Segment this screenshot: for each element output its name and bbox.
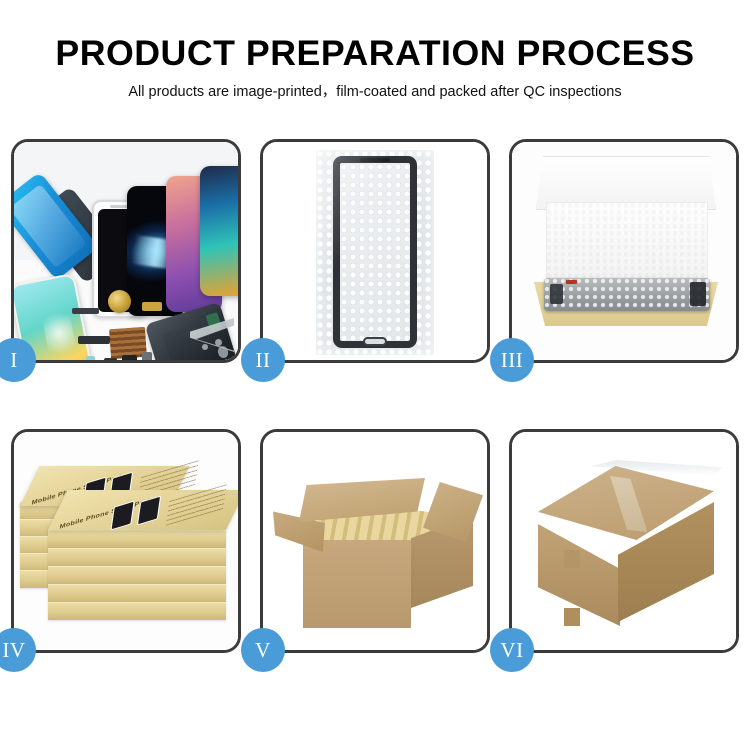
step-image-5	[263, 432, 487, 650]
step-panel-4: Mobile Phone Spare Parts Mobile Phone Sp…	[11, 429, 241, 653]
process-steps-grid: I II III	[11, 139, 739, 653]
step-image-1	[14, 142, 238, 360]
small-part-1	[86, 356, 95, 360]
infographic-page: PRODUCT PREPARATION PROCESS All products…	[0, 0, 750, 750]
wrapped-screen-in-box	[544, 278, 710, 311]
foam-insert	[546, 202, 708, 290]
step-panel-2: II	[260, 139, 490, 363]
page-title: PRODUCT PREPARATION PROCESS	[0, 34, 750, 74]
small-part-2	[104, 358, 117, 360]
gold-flex-part	[142, 302, 162, 311]
step-panel-3: III	[509, 139, 739, 363]
step-badge-2: II	[241, 338, 285, 382]
kraft-box-lid-front: Mobile Phone Spare Parts	[48, 490, 238, 530]
carton-hand-hole-2	[564, 608, 580, 626]
speaker-part-icon	[108, 290, 131, 313]
step-badge-3: III	[490, 338, 534, 382]
step-image-4: Mobile Phone Spare Parts Mobile Phone Sp…	[14, 432, 238, 650]
carton-front-face	[303, 540, 411, 628]
step-image-6	[512, 432, 736, 650]
phone-teal-gradient	[200, 166, 238, 296]
page-subtitle: All products are image-printed，film-coat…	[0, 83, 750, 101]
step-badge-1: I	[0, 338, 36, 382]
step-image-2	[263, 142, 487, 360]
header: PRODUCT PREPARATION PROCESS All products…	[0, 34, 750, 101]
small-part-3	[122, 355, 137, 360]
carton-hand-hole-1	[564, 550, 580, 568]
connector-part	[72, 308, 99, 314]
flex-cable-part	[78, 336, 110, 344]
box-checklist-front	[166, 484, 227, 526]
screw-part-2	[202, 344, 208, 350]
wrapped-screen-glass	[333, 156, 417, 348]
small-part-4	[142, 352, 152, 360]
screw-part-1	[215, 339, 222, 346]
step-panel-5: V	[260, 429, 490, 653]
kraft-box-stack-front: Mobile Phone Spare Parts	[48, 490, 226, 620]
step-badge-6: VI	[490, 628, 534, 672]
step-badge-4: IV	[0, 628, 36, 672]
step-panel-6: VI	[509, 429, 739, 653]
step-image-3	[512, 142, 736, 360]
step-badge-5: V	[241, 628, 285, 672]
step-panel-1: I	[11, 139, 241, 363]
